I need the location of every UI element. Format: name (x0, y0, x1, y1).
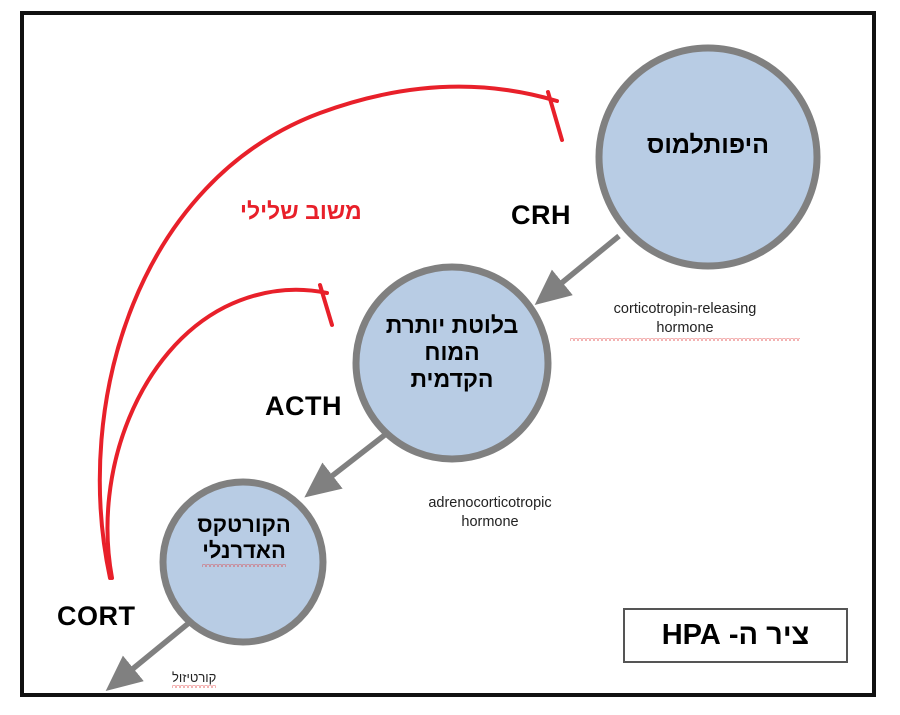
title-box-text: ציר ה- HPA (662, 619, 810, 652)
negative-feedback-label: משוב שלילי (240, 198, 362, 225)
crh-fullname-tail: -releasing (693, 301, 757, 317)
hormone-abbr-acth: ACTH (265, 391, 342, 422)
hormone-full-crh: corticotropin-releasing hormone (570, 300, 800, 338)
node-circles (163, 48, 817, 642)
diagram-canvas: היפותלמוס בלוטת יותרת המוח הקדמית הקורטק… (0, 0, 900, 715)
cortisol-spellcheck-word: קורטיזול (172, 670, 216, 685)
title-box: ציר ה- HPA (623, 608, 848, 663)
acth-arrow (323, 434, 386, 483)
node-adrenal-cortex[interactable] (163, 482, 323, 642)
node-hypothalamus[interactable] (599, 48, 817, 266)
node-anterior-pituitary[interactable] (356, 267, 548, 459)
hormone-abbr-cort: CORT (57, 601, 136, 632)
crh-arrow (553, 236, 619, 290)
hormone-full-cortisol: קורטיזול (172, 670, 216, 685)
hormone-full-acth: adrenocorticotropic hormone (390, 494, 590, 532)
crh-fullname-line2: hormone (570, 319, 800, 338)
crh-spellcheck-word: corticotropin (614, 301, 693, 317)
hormone-abbr-crh: CRH (511, 200, 571, 231)
